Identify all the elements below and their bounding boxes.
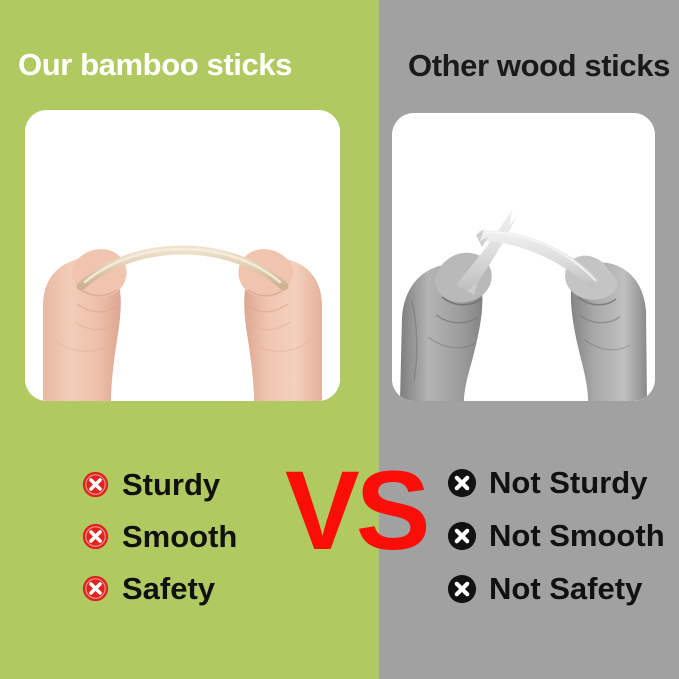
right-product-photo-card	[392, 113, 655, 401]
feature-label: Smooth	[122, 521, 237, 552]
left-panel-heading: Our bamboo sticks	[18, 49, 292, 80]
right-panel-heading: Other wood sticks	[408, 50, 670, 81]
feature-row: Not Smooth	[447, 509, 665, 562]
right-feature-list: Not Sturdy Not Smooth Not Safety	[447, 456, 665, 615]
feature-row: Sturdy	[82, 458, 237, 510]
feature-label: Not Sturdy	[489, 467, 647, 498]
feature-label: Sturdy	[122, 469, 220, 500]
circle-x-icon	[447, 521, 477, 551]
circle-x-icon	[82, 471, 109, 498]
left-product-photo-card	[25, 110, 340, 401]
comparison-infographic: Our bamboo sticks Other wood sticks	[0, 0, 679, 679]
feature-row: Not Sturdy	[447, 456, 665, 509]
feature-label: Not Smooth	[489, 520, 665, 551]
left-feature-list: Sturdy Smooth Safety	[82, 458, 237, 614]
broken-wood-stick-photo	[392, 113, 655, 401]
feature-row: Safety	[82, 562, 237, 614]
circle-x-icon	[447, 574, 477, 604]
versus-label: VS	[285, 455, 426, 567]
bamboo-stick-bend-photo	[25, 110, 340, 401]
circle-x-icon	[447, 468, 477, 498]
feature-label: Safety	[122, 573, 215, 604]
feature-label: Not Safety	[489, 573, 642, 604]
feature-row: Not Safety	[447, 562, 665, 615]
feature-row: Smooth	[82, 510, 237, 562]
circle-x-icon	[82, 575, 109, 602]
circle-x-icon	[82, 523, 109, 550]
